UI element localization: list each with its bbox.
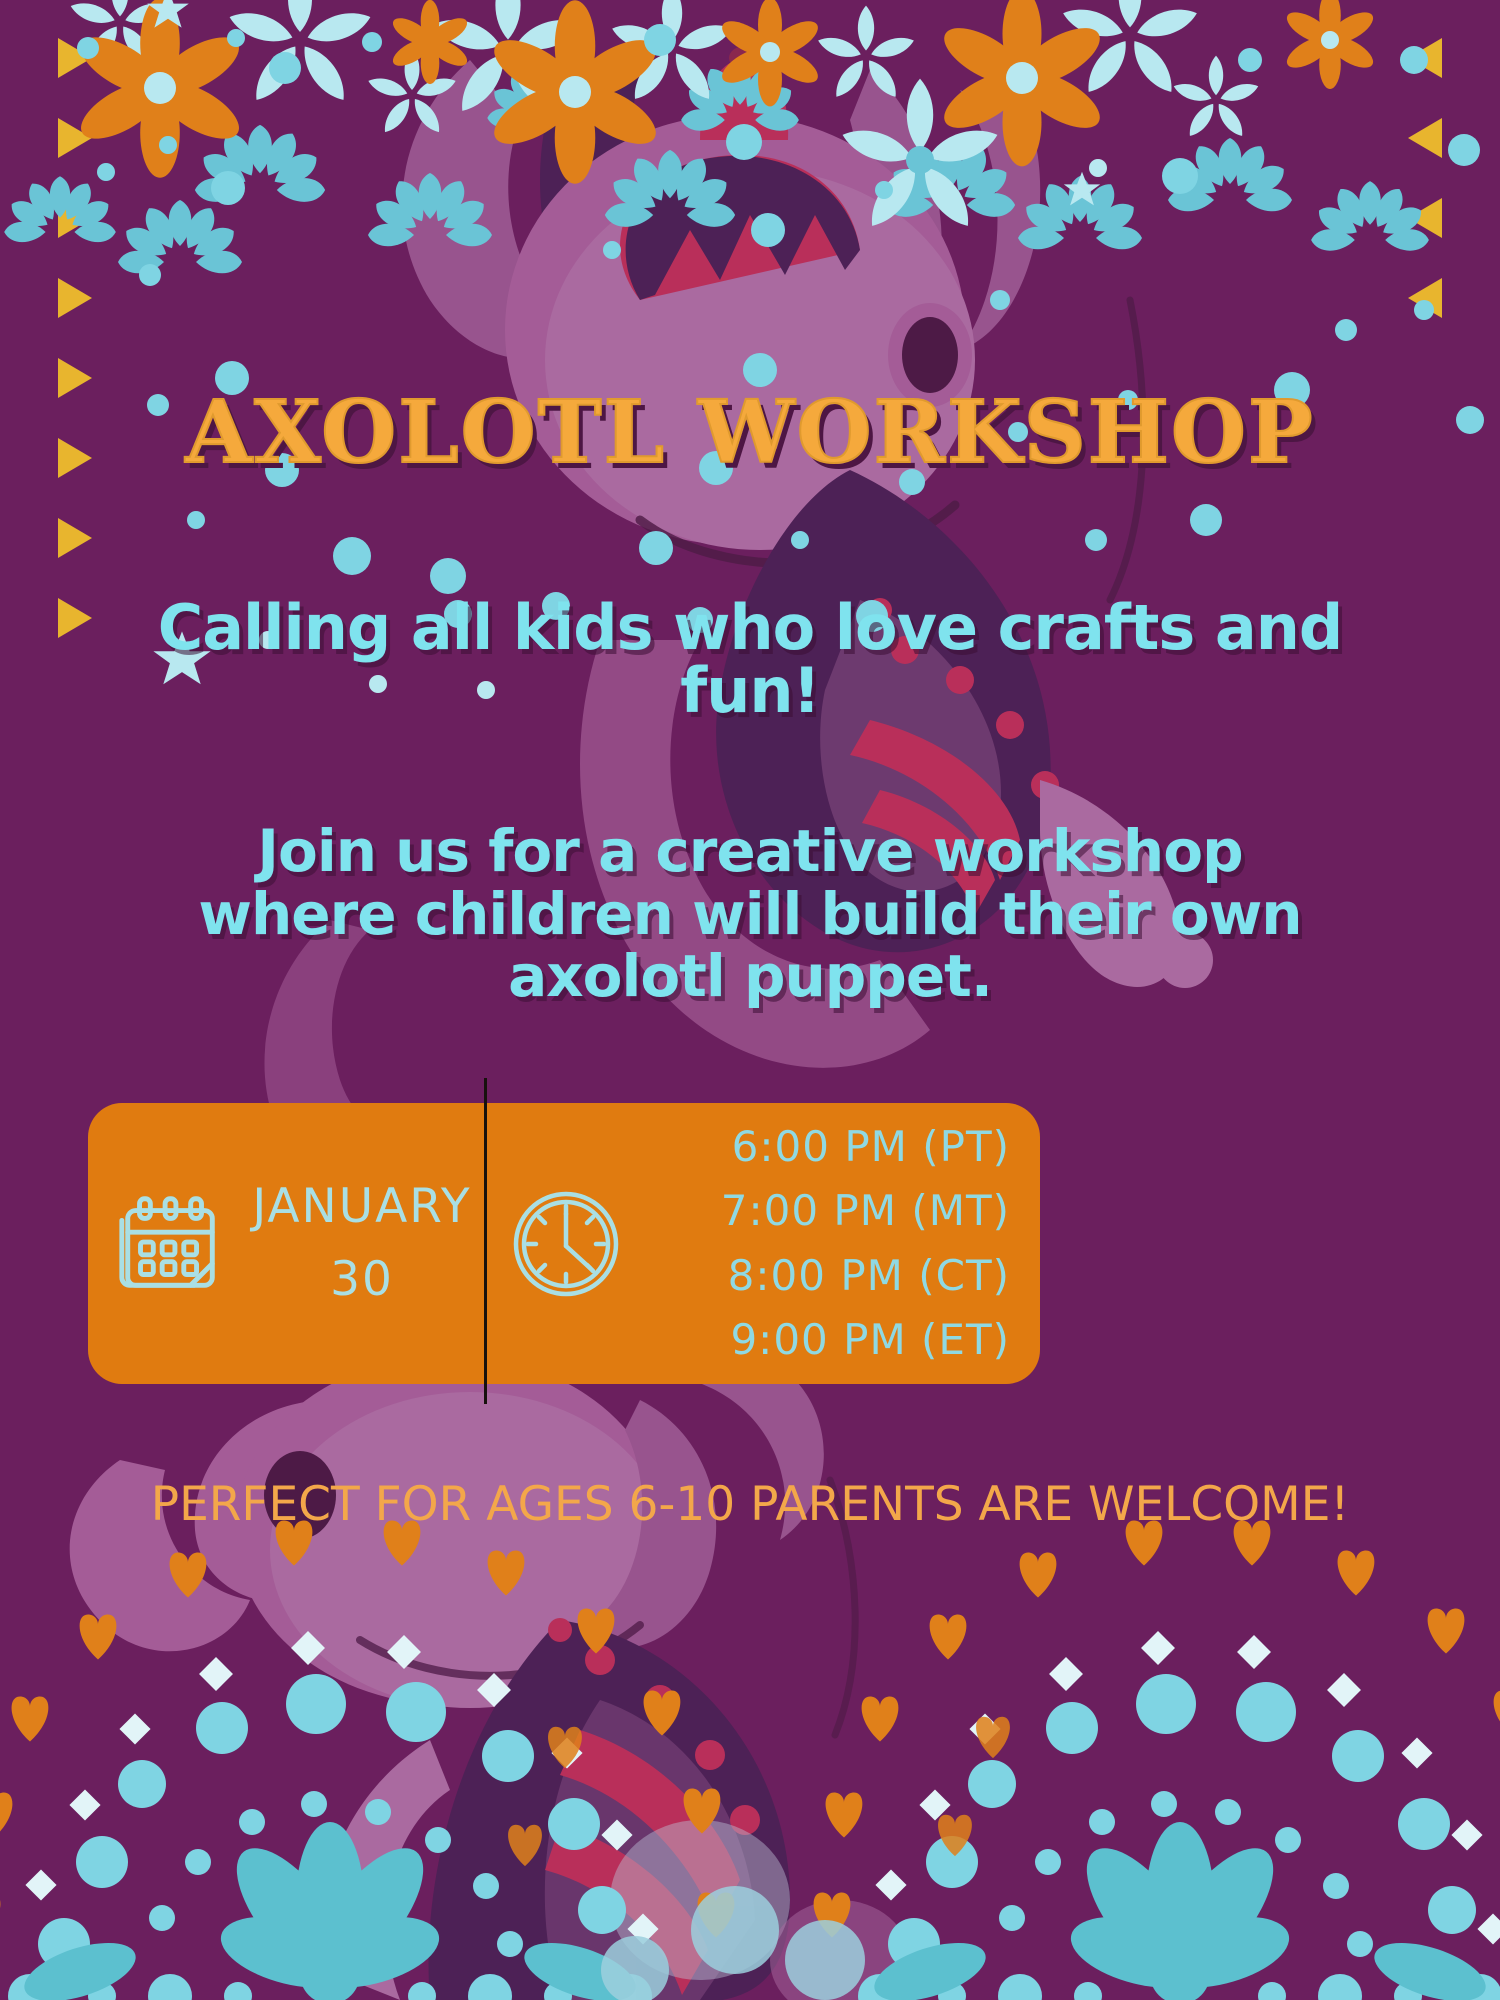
time-section: 6:00 PM (PT) 7:00 PM (MT) 8:00 PM (CT) 9… xyxy=(484,1103,1040,1384)
body-line-3: axolotl puppet. xyxy=(100,945,1400,1008)
time-item-ct: 8:00 PM (CT) xyxy=(634,1244,1010,1308)
page-title: AXOLOTL WORKSHOP xyxy=(0,382,1500,483)
poster-canvas: AXOLOTL WORKSHOP Calling all kids who lo… xyxy=(0,0,1500,2000)
event-date: JANUARY 30 xyxy=(240,1171,484,1317)
event-info-card: JANUARY 30 6:00 PM (PT) 7:00 PM (MT) 8:0… xyxy=(88,1103,1040,1384)
event-month: JANUARY xyxy=(252,1179,471,1234)
time-item-mt: 7:00 PM (MT) xyxy=(634,1179,1010,1243)
time-list: 6:00 PM (PT) 7:00 PM (MT) 8:00 PM (CT) 9… xyxy=(634,1115,1040,1372)
card-divider xyxy=(484,1078,487,1404)
body-line-2: where children will build their own xyxy=(100,883,1400,946)
event-day: 30 xyxy=(240,1244,484,1317)
clock-icon xyxy=(506,1184,626,1304)
time-item-et: 9:00 PM (ET) xyxy=(634,1308,1010,1372)
body-line-1: Join us for a creative workshop xyxy=(100,820,1400,883)
time-item-pt: 6:00 PM (PT) xyxy=(634,1115,1010,1179)
subtitle-line-1: Calling all kids who love crafts and xyxy=(158,591,1343,664)
subtitle-line-2: fun! xyxy=(680,654,820,727)
body-text: Join us for a creative workshop where ch… xyxy=(100,820,1400,1008)
date-section: JANUARY 30 xyxy=(88,1103,484,1384)
subtitle: Calling all kids who love crafts and fun… xyxy=(92,596,1408,722)
calendar-icon xyxy=(112,1185,230,1303)
footer-note: PERFECT FOR AGES 6-10 PARENTS ARE WELCOM… xyxy=(0,1477,1500,1532)
